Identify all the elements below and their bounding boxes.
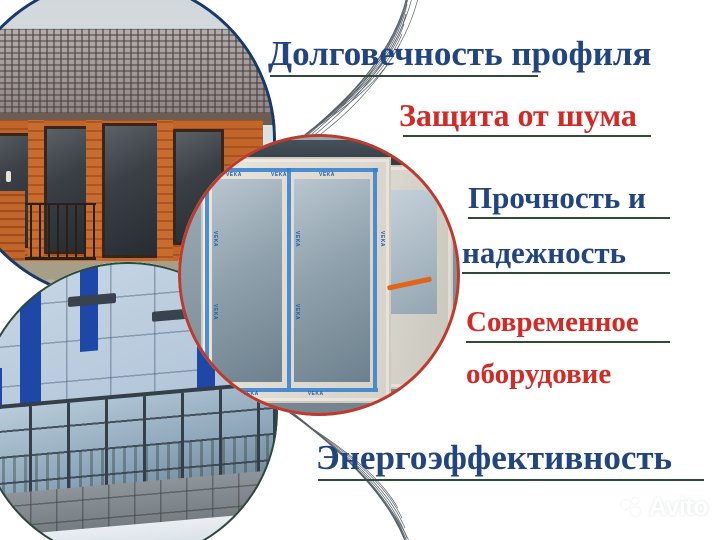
veka-brand-label: VEKA: [212, 231, 218, 247]
wall-lamp: [6, 171, 11, 182]
blue-accent-panel: [80, 262, 98, 352]
headline-reliability: надежность: [462, 237, 670, 274]
house-window: [102, 123, 163, 258]
veka-brand-label: VEKA: [212, 304, 218, 320]
veka-brand-label: VEKA: [308, 391, 324, 397]
headline-text: Долговечность профиля: [268, 36, 651, 71]
headline-underline: [468, 217, 670, 219]
protective-film-strip: [205, 168, 209, 388]
headline-strength: Прочность и: [468, 182, 670, 219]
window-glazing: [212, 179, 283, 382]
avito-watermark: Avito: [621, 493, 708, 522]
poster-canvas: VEKA VEKA VEKA VEKA VEKA VEKA VEKA VEKA …: [0, 0, 720, 540]
headline-underline: [462, 272, 670, 274]
veka-brand-label: VEKA: [293, 231, 299, 247]
headline-text: Современное: [466, 308, 670, 337]
headline-underline: [403, 135, 651, 137]
veka-brand-label: VEKA: [379, 231, 385, 247]
protective-film-strip: [287, 168, 291, 388]
log-corner-post: [157, 120, 173, 275]
protective-film-strip: [203, 388, 378, 392]
headline-underline: [270, 75, 538, 77]
headline-energy-efficiency: Энергоэффективность: [316, 440, 704, 481]
veka-brand-label: VEKA: [319, 172, 335, 178]
photo-circle-veka-windows: VEKA VEKA VEKA VEKA VEKA VEKA VEKA VEKA …: [178, 134, 460, 416]
veka-brand-label: VEKA: [226, 172, 242, 178]
veka-brand-label: VEKA: [243, 391, 259, 397]
tiled-roof: [0, 23, 276, 120]
headline-equipment: оборудовие: [466, 360, 611, 389]
veka-brand-label: VEKA: [271, 172, 287, 178]
avito-wordmark: Avito: [649, 493, 708, 522]
veka-brand-label: VEKA: [293, 304, 299, 320]
headline-text: надежность: [462, 237, 670, 268]
avito-dots-icon: [621, 498, 644, 517]
protective-film-strip: [373, 168, 377, 388]
headline-underline: [466, 341, 670, 343]
headline-text: Защита от шума: [399, 99, 651, 131]
headline-text: оборудовие: [466, 360, 611, 389]
headline-text: Энергоэффективность: [316, 440, 704, 475]
headline-modern: Современное: [466, 308, 670, 343]
headline-text: Прочность и: [468, 182, 670, 213]
window-glazing: [294, 179, 370, 382]
veka-windows-photo: VEKA VEKA VEKA VEKA VEKA VEKA VEKA VEKA …: [178, 134, 460, 416]
headline-noise-protection: Защита от шума: [399, 99, 651, 137]
headline-underline: [318, 479, 704, 481]
headline-durability: Долговечность профиля: [268, 36, 651, 77]
